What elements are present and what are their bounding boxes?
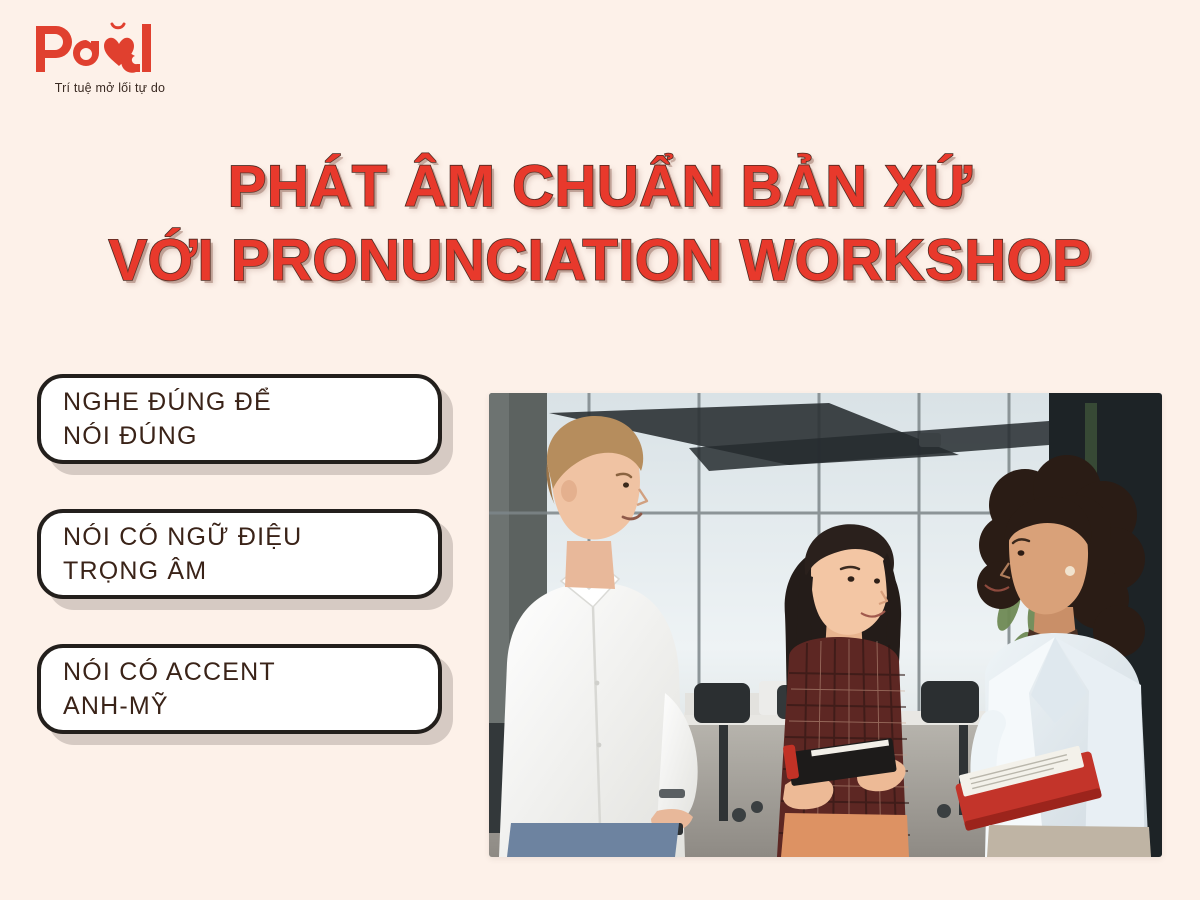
feature-1-line-2: NÓI ĐÚNG (63, 419, 438, 453)
office-conversation-photo (489, 393, 1162, 857)
brand-logo[interactable]: Trí tuệ mở lối tự do (30, 16, 230, 95)
feature-box-3[interactable]: NÓI CÓ ACCENT ANH-MỸ (37, 644, 442, 734)
feature-2-line-1: NÓI CÓ NGỮ ĐIỆU (63, 520, 438, 554)
feature-box-1[interactable]: NGHE ĐÚNG ĐỂ NÓI ĐÚNG (37, 374, 442, 464)
brand-tagline: Trí tuệ mở lối tự do (30, 81, 190, 95)
feature-box-2[interactable]: NÓI CÓ NGỮ ĐIỆU TRỌNG ÂM (37, 509, 442, 599)
headline-line-1: PHÁT ÂM CHUẨN BẢN XỨ (0, 150, 1200, 224)
person-woman-plaid (777, 524, 910, 857)
photo-illustration (489, 393, 1162, 857)
headline-line-2: VỚI PRONUNCIATION WORKSHOP (0, 224, 1200, 298)
feature-3-line-2: ANH-MỸ (63, 689, 438, 723)
headline: PHÁT ÂM CHUẨN BẢN XỨ VỚI PRONUNCIATION W… (0, 150, 1200, 298)
pasal-logo-icon (30, 16, 190, 78)
pasal-wordmark (30, 16, 190, 78)
feature-2-line-2: TRỌNG ÂM (63, 554, 438, 588)
feature-3-line-1: NÓI CÓ ACCENT (63, 655, 438, 689)
poster-canvas: Trí tuệ mở lối tự do PHÁT ÂM CHUẨN BẢN X… (0, 0, 1200, 900)
feature-list: NGHE ĐÚNG ĐỂ NÓI ĐÚNG NÓI CÓ NGỮ ĐIỆU TR… (37, 374, 457, 734)
feature-1-line-1: NGHE ĐÚNG ĐỂ (63, 385, 438, 419)
